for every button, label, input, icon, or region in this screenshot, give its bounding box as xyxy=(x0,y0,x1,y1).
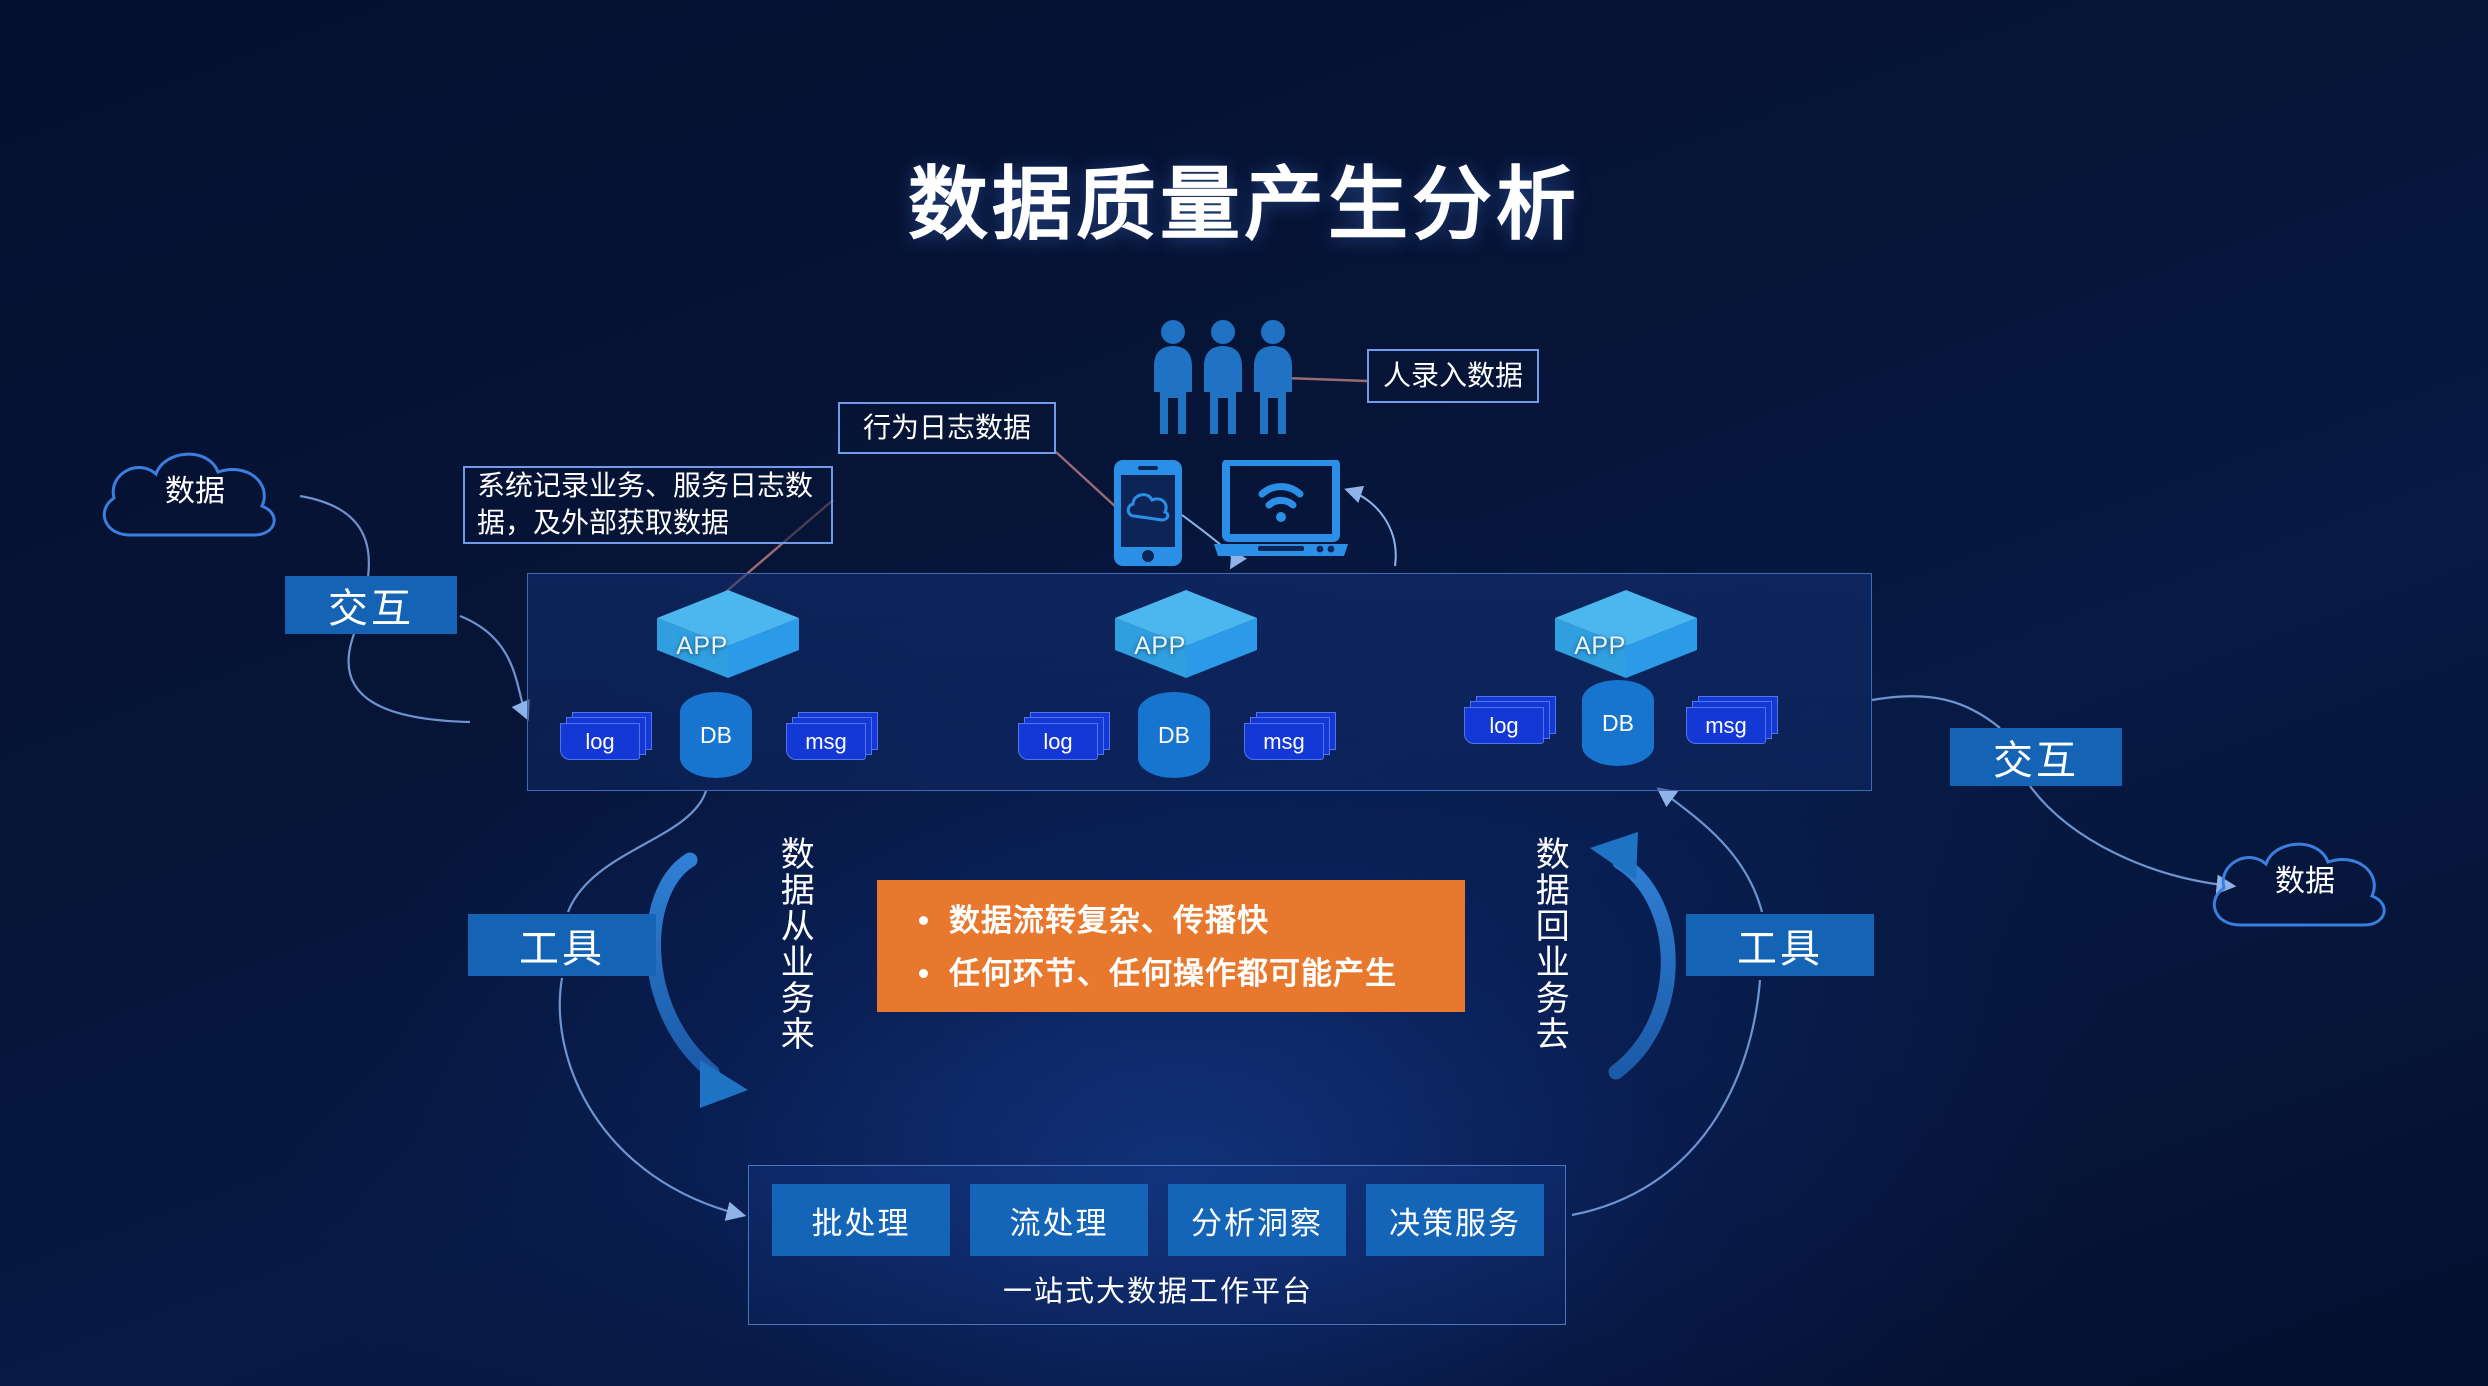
platform-button-analytics[interactable]: 分析洞察 xyxy=(1168,1184,1346,1256)
connector-panel-to-tools-left xyxy=(568,791,706,912)
app-column: APP log DB msg xyxy=(1436,574,1816,792)
database-cylinder-icon: DB xyxy=(1138,692,1210,778)
flow-caption-right: 数据回业务去 xyxy=(1527,836,1571,1052)
chip-interaction-left[interactable]: 交互 xyxy=(285,576,457,634)
mobile-phone-cloud-icon xyxy=(1112,458,1184,568)
app-cube-label: APP xyxy=(1134,632,1186,661)
app-column: APP log DB msg xyxy=(996,574,1376,792)
msg-stack-icon: msg xyxy=(1686,696,1778,744)
db-label: DB xyxy=(680,692,752,778)
cloud-right: 数据 xyxy=(2200,830,2410,945)
people-group-icon xyxy=(1148,318,1298,438)
platform-button-decision[interactable]: 决策服务 xyxy=(1366,1184,1544,1256)
chip-tools-left[interactable]: 工具 xyxy=(468,914,656,976)
connector-platform-to-tools-right xyxy=(1572,980,1760,1215)
app-column: APP log DB msg xyxy=(538,574,918,792)
store-row: log DB msg xyxy=(996,692,1376,782)
msg-stack-icon: msg xyxy=(1244,712,1336,760)
connector-tools-right-to-panel xyxy=(1660,790,1762,912)
log-stack-icon: log xyxy=(1464,696,1556,744)
platform-button-stream[interactable]: 流处理 xyxy=(970,1184,1148,1256)
cloud-left: 数据 xyxy=(90,440,300,555)
curved-arrow-up-icon xyxy=(1616,862,1668,1072)
log-stack-icon: log xyxy=(1018,712,1110,760)
callout-system-logs-text: 系统记录业务、服务日志数据，及外部获取数据 xyxy=(465,462,831,548)
log-stack-icon: log xyxy=(560,712,652,760)
store-row: log DB msg xyxy=(1436,680,1816,770)
store-row: log DB msg xyxy=(538,692,918,782)
app-systems-panel: APP log DB msg xyxy=(527,573,1872,791)
database-cylinder-icon: DB xyxy=(1582,680,1654,766)
db-label: DB xyxy=(1138,692,1210,778)
msg-stack-label: msg xyxy=(1244,723,1324,760)
msg-stack-label: msg xyxy=(786,723,866,760)
curved-arrow-up-head xyxy=(1590,832,1638,880)
db-label: DB xyxy=(1582,680,1654,766)
connector-interaction-left-to-panel xyxy=(460,616,527,717)
chip-interaction-right[interactable]: 交互 xyxy=(1950,728,2122,786)
callout-behavior-logs-text: 行为日志数据 xyxy=(851,404,1043,453)
platform-button-row: 批处理 流处理 分析洞察 决策服务 xyxy=(749,1184,1567,1256)
curved-arrow-down-icon xyxy=(654,860,712,1072)
curved-arrow-down-head xyxy=(700,1060,748,1108)
log-stack-label: log xyxy=(1018,723,1098,760)
laptop-wifi-icon xyxy=(1212,460,1350,560)
big-data-platform-panel: 批处理 流处理 分析洞察 决策服务 一站式大数据工作平台 xyxy=(748,1165,1566,1325)
platform-button-batch[interactable]: 批处理 xyxy=(772,1184,950,1256)
cloud-right-label: 数据 xyxy=(2200,856,2410,900)
log-stack-label: log xyxy=(1464,707,1544,744)
connector-panel-to-interaction-right xyxy=(1872,696,2000,728)
connector-tools-left-to-platform xyxy=(560,978,742,1215)
msg-stack-icon: msg xyxy=(786,712,878,760)
page-title: 数据质量产生分析 xyxy=(0,140,2488,256)
database-cylinder-icon: DB xyxy=(680,692,752,778)
slide-canvas: 数据质量产生分析 数据 数据 xyxy=(0,0,2488,1386)
platform-caption: 一站式大数据工作平台 xyxy=(749,1268,1567,1310)
orange-bullet-item: 数据流转复杂、传播快 xyxy=(911,894,1447,947)
orange-highlight-box: 数据流转复杂、传播快 任何环节、任何操作都可能产生 xyxy=(877,880,1465,1012)
app-cube-label: APP xyxy=(1574,632,1626,661)
callout-human-entry-text: 人录入数据 xyxy=(1371,352,1535,401)
callout-system-logs: 系统记录业务、服务日志数据，及外部获取数据 xyxy=(463,466,833,544)
callout-human-entry: 人录入数据 xyxy=(1367,349,1539,403)
chip-tools-right[interactable]: 工具 xyxy=(1686,914,1874,976)
cloud-left-label: 数据 xyxy=(90,466,300,510)
connector-laptop-to-panel xyxy=(1348,490,1396,566)
callout-behavior-logs: 行为日志数据 xyxy=(838,402,1056,454)
orange-bullet-list: 数据流转复杂、传播快 任何环节、任何操作都可能产生 xyxy=(877,894,1465,1001)
msg-stack-label: msg xyxy=(1686,707,1766,744)
log-stack-label: log xyxy=(560,723,640,760)
flow-caption-left: 数据从业务来 xyxy=(772,836,816,1052)
app-cube-label: APP xyxy=(676,632,728,661)
orange-bullet-item: 任何环节、任何操作都可能产生 xyxy=(911,947,1447,1000)
